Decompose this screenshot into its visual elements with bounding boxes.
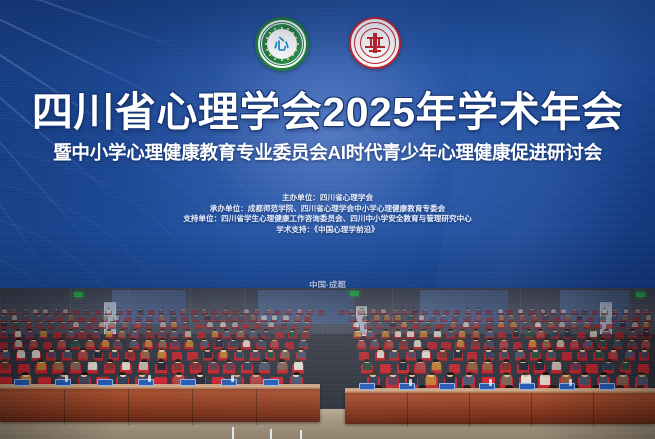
organizer-line-supporter: 支持单位：四川省学生心理健康工作咨询委员会、四川中小学安全教育与管理研究中心 <box>0 214 655 225</box>
event-title: 四川省心理学会2025年学术年会 <box>0 92 655 133</box>
auditorium <box>0 288 655 439</box>
background-rings <box>0 0 655 318</box>
light-streaks-top-left <box>0 0 210 170</box>
led-backdrop: 心 四川省心理学会2025年学术年会 暨中小学心理健康教育专业委员会AI时代青少… <box>0 0 655 318</box>
light-arcs-bottom-left <box>0 108 260 318</box>
organizer-list: 主办单位：四川省心理学会 承办单位：成都师范学院、四川省心理学会中小学心理健康教… <box>0 193 655 235</box>
organizer-line-academic: 学术支持：《中国心理学前沿》 <box>0 225 655 236</box>
chengdu-normal-university-emblem-icon <box>349 17 401 69</box>
event-subtitle: 暨中小学心理健康教育专业委员会AI时代青少年心理健康促进研讨会 <box>0 144 655 163</box>
background-sheen <box>427 0 655 318</box>
background-light-beam <box>148 0 508 318</box>
sichuan-psychological-society-emblem-icon: 心 <box>255 17 309 71</box>
organizer-line-host: 主办单位：四川省心理学会 <box>0 193 655 204</box>
emblem-row: 心 <box>0 17 655 71</box>
conference-photo: 心 四川省心理学会2025年学术年会 暨中小学心理健康教育专业委员会AI时代青少… <box>0 0 655 439</box>
organizer-line-undertaker: 承办单位：成都师范学院、四川省心理学会中小学心理健康教育专委会 <box>0 204 655 215</box>
